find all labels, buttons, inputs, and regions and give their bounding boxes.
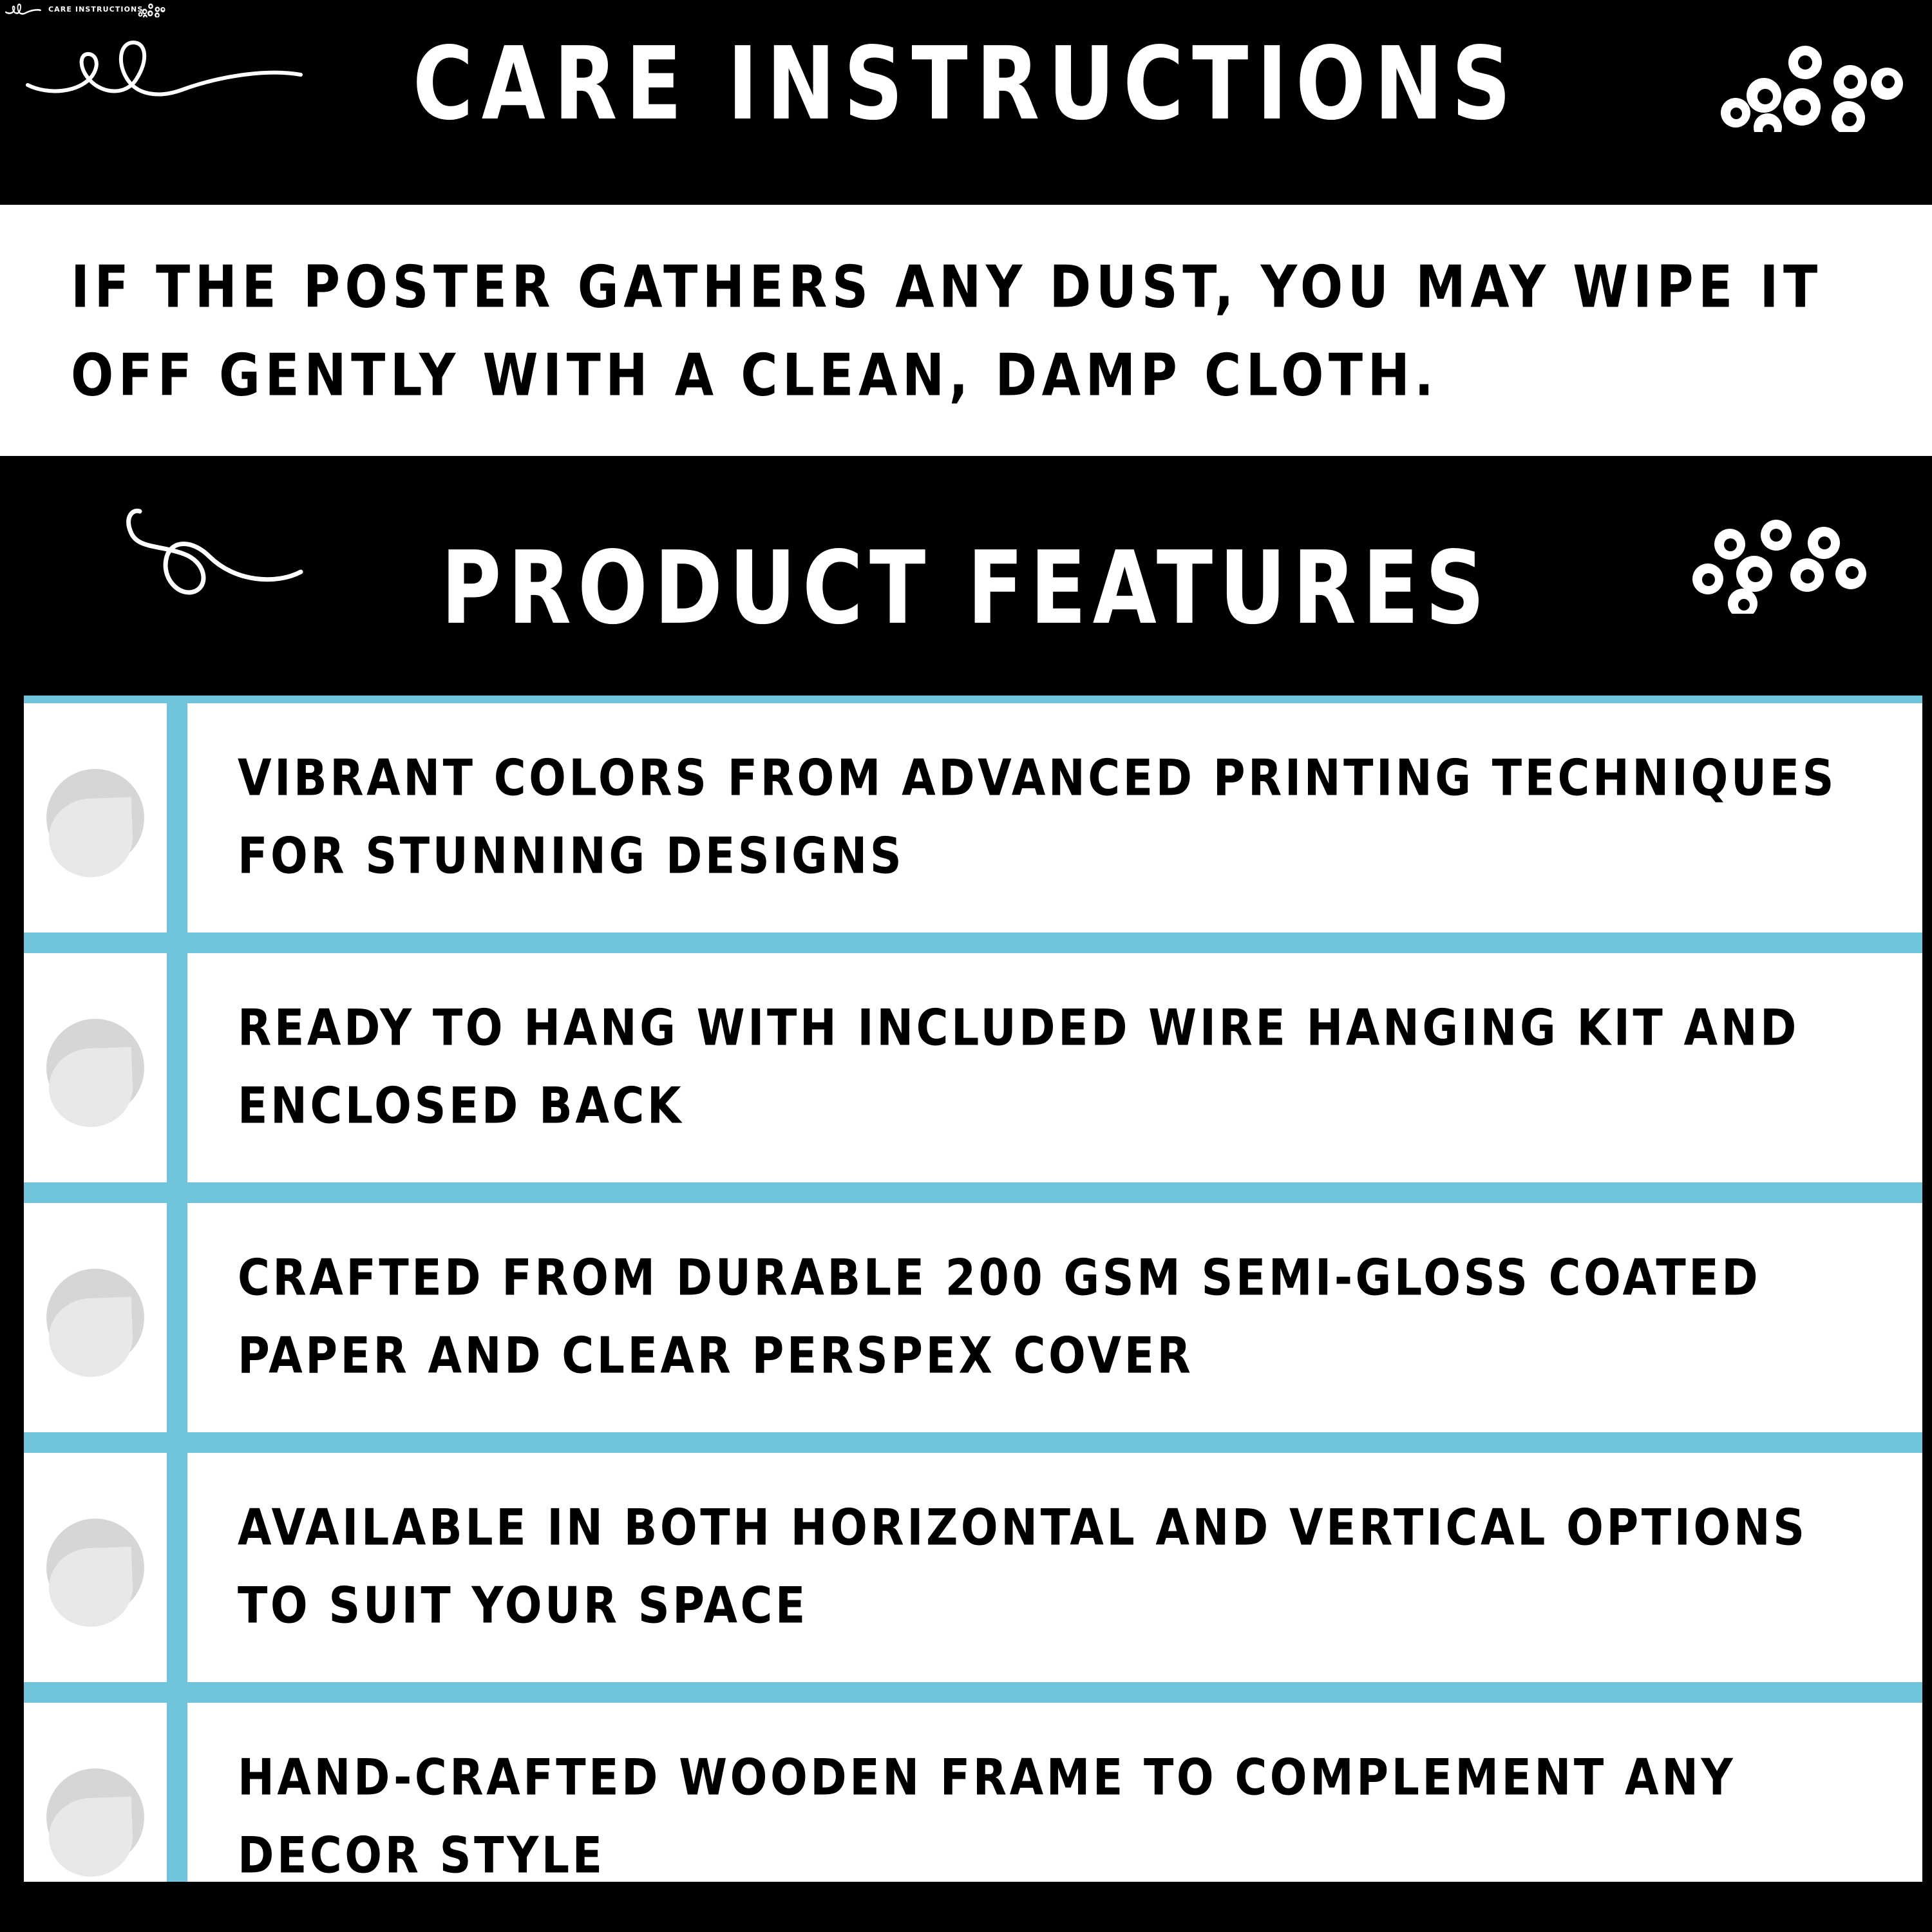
dot-cluster-icon: [1710, 35, 1909, 132]
placeholder-circle-icon: [46, 1269, 144, 1367]
thumbnail-title: CARE INSTRUCTIONS: [48, 0, 143, 19]
product-features-grid: VIBRANT COLORS FROM ADVANCED PRINTING TE…: [0, 696, 1932, 1882]
grid-divider: [167, 703, 187, 933]
feature-icon-cell: [24, 1703, 167, 1882]
feature-text: VIBRANT COLORS FROM ADVANCED PRINTING TE…: [238, 740, 1897, 896]
squiggle-flourish-icon: [5, 1, 41, 15]
feature-text: CRAFTED FROM DURABLE 200 GSM SEMI-GLOSS …: [238, 1240, 1897, 1396]
placeholder-circle-icon: [46, 1768, 144, 1866]
feature-icon-cell: [24, 1203, 167, 1432]
care-instructions-text: IF THE POSTER GATHERS ANY DUST, YOU MAY …: [71, 243, 1880, 420]
dot-cluster-icon: [1681, 517, 1880, 614]
feature-text: AVAILABLE IN BOTH HORIZONTAL AND VERTICA…: [238, 1490, 1897, 1645]
placeholder-circle-icon: [46, 1019, 144, 1117]
placeholder-circle-icon: [46, 769, 144, 867]
list-item[interactable]: READY TO HANG WITH INCLUDED WIRE HANGING…: [24, 953, 1922, 1182]
grid-divider: [167, 953, 187, 1182]
grid-left-edge: [0, 696, 24, 1882]
feature-text-cell: CRAFTED FROM DURABLE 200 GSM SEMI-GLOSS …: [187, 1203, 1922, 1432]
list-item[interactable]: CRAFTED FROM DURABLE 200 GSM SEMI-GLOSS …: [24, 1203, 1922, 1432]
thumbnail-preview: CARE INSTRUCTIONS: [0, 0, 386, 19]
list-item[interactable]: VIBRANT COLORS FROM ADVANCED PRINTING TE…: [24, 703, 1922, 933]
grid-divider: [167, 1203, 187, 1432]
grid-right-edge: [1922, 696, 1932, 1882]
feature-text-cell: READY TO HANG WITH INCLUDED WIRE HANGING…: [187, 953, 1922, 1182]
feature-icon-cell: [24, 1453, 167, 1682]
list-item[interactable]: HAND-CRAFTED WOODEN FRAME TO COMPLEMENT …: [24, 1703, 1922, 1882]
placeholder-circle-icon: [46, 1519, 144, 1616]
feature-text: READY TO HANG WITH INCLUDED WIRE HANGING…: [238, 990, 1897, 1146]
feature-icon-cell: [24, 703, 167, 933]
thumbnail-strip: CARE INSTRUCTIONS: [0, 0, 1932, 19]
feature-text: HAND-CRAFTED WOODEN FRAME TO COMPLEMENT …: [238, 1739, 1897, 1882]
page-title-care: CARE INSTRUCTIONS: [0, 26, 1932, 144]
feature-text-cell: AVAILABLE IN BOTH HORIZONTAL AND VERTICA…: [187, 1453, 1922, 1682]
feature-text-cell: HAND-CRAFTED WOODEN FRAME TO COMPLEMENT …: [187, 1703, 1922, 1882]
care-instructions-header-band: CARE INSTRUCTIONS: [0, 0, 1932, 205]
care-and-features-page: CARE INSTRUCTIONS IF THE POSTER GATHERS …: [0, 0, 1932, 1932]
list-item[interactable]: AVAILABLE IN BOTH HORIZONTAL AND VERTICA…: [24, 1453, 1922, 1682]
care-instructions-body-band: IF THE POSTER GATHERS ANY DUST, YOU MAY …: [0, 205, 1932, 456]
feature-text-cell: VIBRANT COLORS FROM ADVANCED PRINTING TE…: [187, 703, 1922, 933]
grid-divider: [167, 1703, 187, 1882]
feature-icon-cell: [24, 953, 167, 1182]
grid-divider: [167, 1453, 187, 1682]
product-features-header-band: PRODUCT FEATURES: [0, 456, 1932, 696]
page-title-features: PRODUCT FEATURES: [0, 530, 1932, 648]
dot-cluster-icon: [137, 2, 166, 17]
